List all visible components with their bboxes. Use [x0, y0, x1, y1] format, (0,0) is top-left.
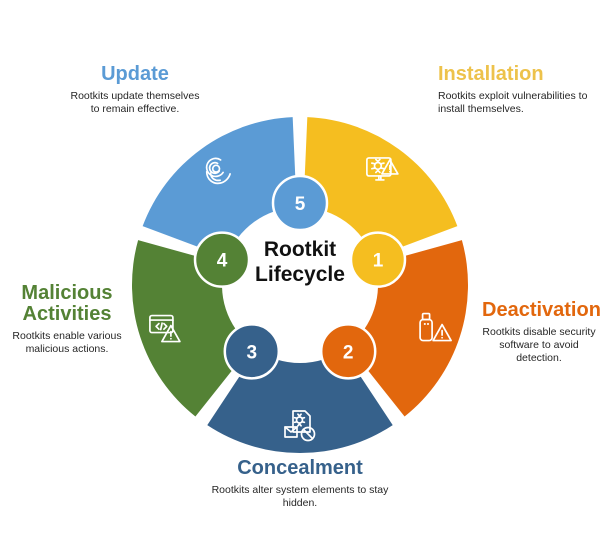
center-title-line-2: Lifecycle [225, 263, 375, 288]
label-malicious-activities-title: Malicious Activities [8, 283, 126, 325]
label-malicious-activities: Malicious Activities Rootkits enable var… [8, 283, 126, 356]
label-concealment: Concealment Rootkits alter system elemen… [200, 458, 400, 510]
label-concealment-description: Rootkits alter system elements to stay h… [200, 484, 400, 510]
stage-badge-2[interactable]: 2 [321, 324, 375, 378]
stage-badge-5[interactable]: 5 [273, 176, 327, 230]
label-installation-description: Rootkits exploit vulnerabilities to inst… [438, 90, 588, 116]
label-update-title: Update [70, 64, 200, 85]
label-deactivation-title: Deactivation [482, 300, 596, 321]
label-deactivation-description: Rootkits disable security software to av… [482, 326, 596, 365]
label-update: Update Rootkits update themselves to rem… [70, 64, 200, 116]
label-installation: Installation Rootkits exploit vulnerabil… [438, 64, 588, 116]
stage-badge-number: 2 [343, 342, 354, 363]
center-title-line-1: Rootkit [225, 238, 375, 263]
stage-badge-number: 5 [295, 194, 306, 215]
label-installation-title: Installation [438, 64, 588, 85]
label-malicious-activities-title-line-1: Malicious [8, 283, 126, 304]
label-malicious-activities-description: Rootkits enable various malicious action… [8, 330, 126, 356]
label-update-description: Rootkits update themselves to remain eff… [70, 90, 200, 116]
label-malicious-activities-title-line-2: Activities [8, 304, 126, 325]
label-deactivation: Deactivation Rootkits disable security s… [482, 300, 596, 365]
center-title: Rootkit Lifecycle [225, 238, 375, 288]
stage-badge-3[interactable]: 3 [225, 324, 279, 378]
stage-badge-number: 3 [247, 342, 258, 363]
label-concealment-title: Concealment [200, 458, 400, 479]
infographic-canvas: 12345 Rootkit Lifecycle Installation Roo… [0, 0, 600, 546]
